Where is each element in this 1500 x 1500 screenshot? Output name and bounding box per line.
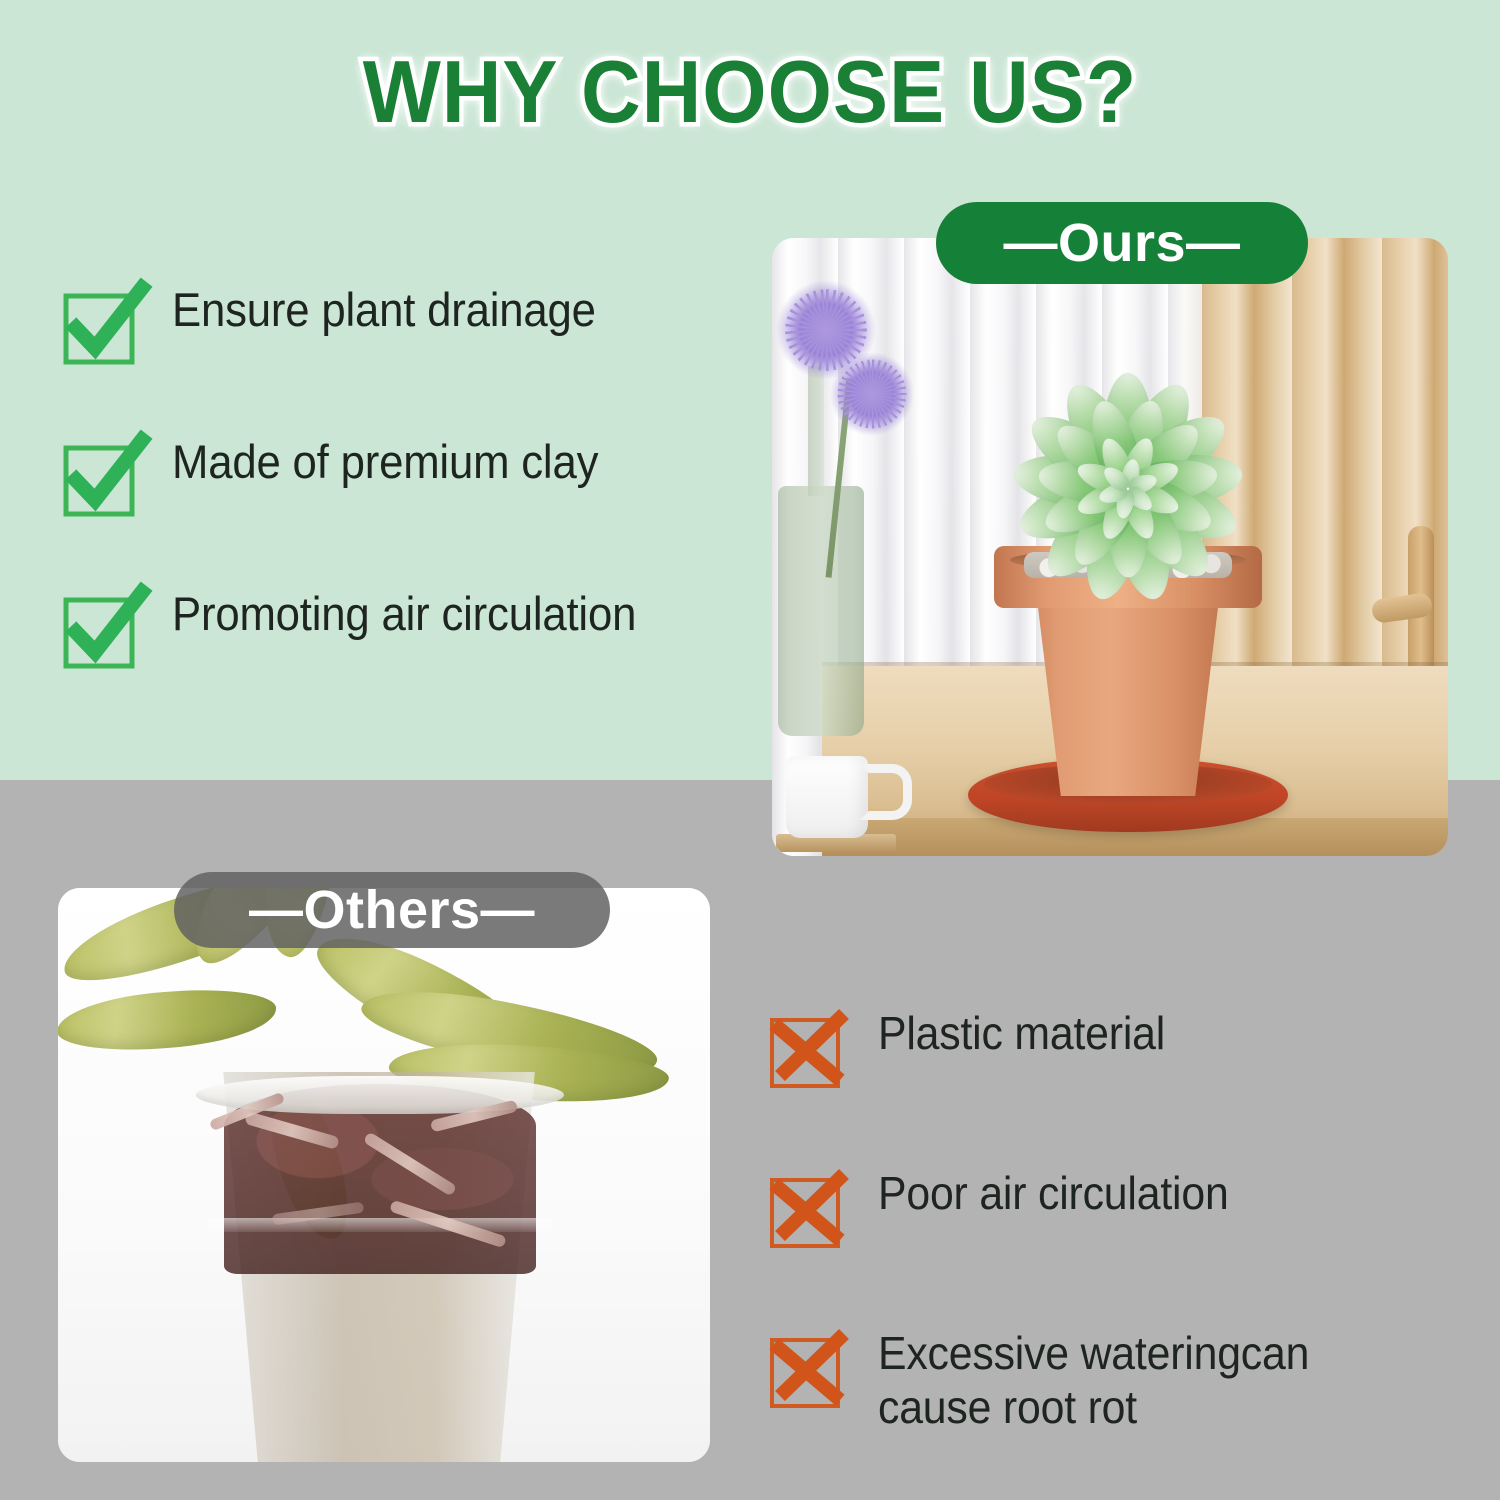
others-product-photo xyxy=(58,888,710,1462)
list-item-label: Made of premium clay xyxy=(172,430,598,489)
infographic-canvas: WHY CHOOSE US? xyxy=(0,0,1500,1500)
white-mug xyxy=(786,756,868,838)
ours-feature-list: Ensure plant drainage Made of premium cl… xyxy=(62,278,742,734)
plastic-pot-band xyxy=(208,1218,552,1232)
list-item-label: Plastic material xyxy=(878,1002,1165,1060)
list-item-label: Poor air circulation xyxy=(878,1162,1229,1220)
check-box-icon xyxy=(62,436,148,522)
purple-thistle-flower-icon xyxy=(831,353,914,436)
others-badge: —Others— xyxy=(174,872,610,948)
page-title: WHY CHOOSE US? xyxy=(45,48,1455,136)
list-item-label: Excessive wateringcan cause root rot xyxy=(878,1322,1309,1435)
check-box-icon xyxy=(62,588,148,674)
ours-product-photo xyxy=(772,238,1448,856)
ours-badge: —Ours— xyxy=(936,202,1308,284)
list-item: Ensure plant drainage xyxy=(62,278,742,370)
succulent-plant xyxy=(958,376,1298,596)
cross-box-icon xyxy=(768,1008,854,1094)
vase-neck xyxy=(808,366,824,496)
check-box-icon xyxy=(62,284,148,370)
list-item: Plastic material xyxy=(768,1002,1428,1094)
list-item: Poor air circulation xyxy=(768,1162,1428,1254)
glass-vase xyxy=(778,486,864,736)
list-item: Excessive wateringcan cause root rot xyxy=(768,1322,1428,1435)
list-item: Made of premium clay xyxy=(62,430,742,522)
list-item-label: Promoting air circulation xyxy=(172,582,636,641)
cross-box-icon xyxy=(768,1168,854,1254)
others-drawback-list: Plastic material Poor air circulation xyxy=(768,1002,1428,1500)
mug-handle xyxy=(860,764,912,820)
orchid-leaf xyxy=(58,984,278,1055)
list-item: Promoting air circulation xyxy=(62,582,742,674)
cross-box-icon xyxy=(768,1328,854,1414)
list-item-label: Ensure plant drainage xyxy=(172,278,596,337)
